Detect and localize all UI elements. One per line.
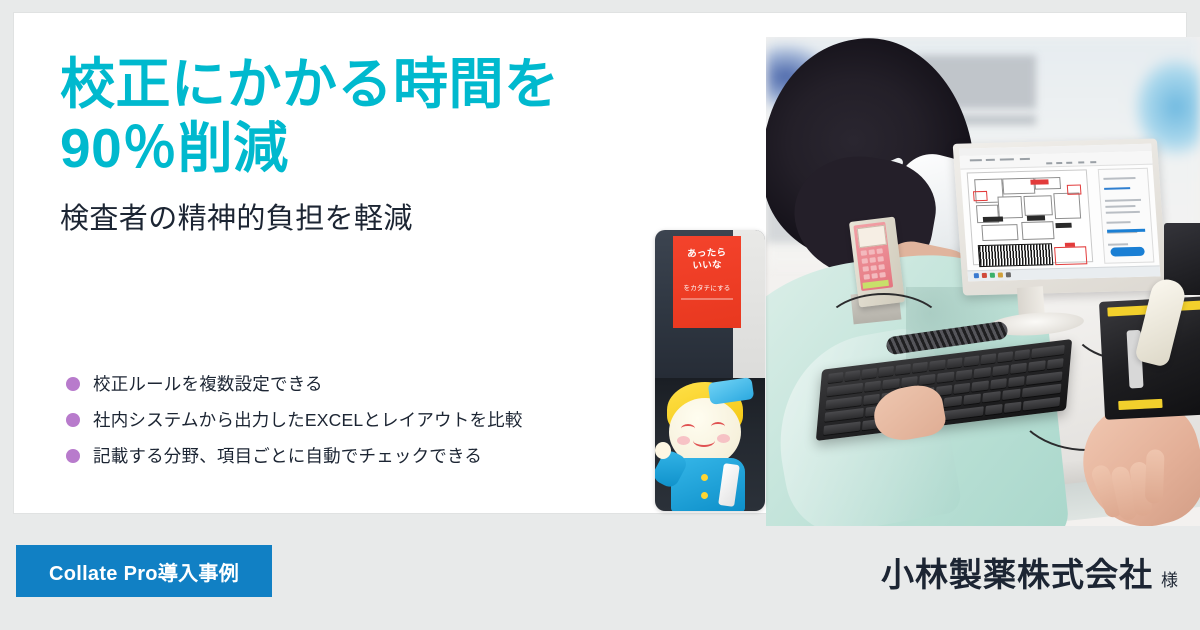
- primary-action-button[interactable]: [1110, 247, 1145, 257]
- poster-headline: あったら いいな: [673, 247, 742, 273]
- mascot-eye: [711, 422, 725, 431]
- inset-photo: あったら いいな をカタチにする: [655, 230, 765, 511]
- mascot-cheek: [717, 434, 730, 443]
- barcode-image: [978, 243, 1054, 267]
- mascot-button: [701, 474, 708, 481]
- list-item: 校正ルールを複数設定できる: [66, 371, 626, 396]
- page-title: 校正にかかる時間を 90％削減: [60, 53, 660, 181]
- bullet-dot-icon: [66, 449, 80, 463]
- main-photo: [766, 37, 1200, 526]
- corporate-slogan-poster: あったら いいな をカタチにする: [673, 236, 741, 328]
- feature-label: 社内システムから出力したEXCELとレイアウトを比較: [93, 407, 523, 432]
- mascot-eye: [681, 424, 695, 433]
- bullet-dot-icon: [66, 413, 80, 427]
- mascot-button: [701, 492, 708, 499]
- badge-label: Collate Pro導入事例: [49, 557, 239, 586]
- list-item: 社内システムから出力したEXCELとレイアウトを比較: [66, 407, 626, 432]
- poster-rule: [681, 298, 733, 300]
- monitor-screen: [959, 144, 1160, 282]
- mascot-cheek: [677, 436, 690, 445]
- progress-bar: [1107, 229, 1145, 233]
- feature-label: 校正ルールを複数設定できる: [93, 371, 323, 396]
- app-side-panel: [1098, 168, 1155, 264]
- workstation-photo: [766, 37, 1200, 526]
- list-item: 記載する分野、項目ごとに自動でチェックできる: [66, 443, 626, 468]
- company-credit: 小林製薬株式会社 様: [881, 548, 1178, 596]
- feature-label: 記載する分野、項目ごとに自動でチェックできる: [93, 443, 482, 468]
- poster-subline: をカタチにする: [673, 282, 741, 292]
- company-name: 小林製薬株式会社: [881, 548, 1153, 596]
- headline-block: 校正にかかる時間を 90％削減 検査者の精神的負担を軽減: [60, 53, 660, 237]
- mascot-mouth: [693, 434, 715, 447]
- company-honorific: 様: [1161, 566, 1178, 591]
- warning-label: [1118, 399, 1162, 410]
- case-study-badge: Collate Pro導入事例: [16, 545, 272, 597]
- page-subtitle: 検査者の精神的負担を軽減: [60, 195, 660, 237]
- hero-card: 校正にかかる時間を 90％削減 検査者の精神的負担を軽減 校正ルールを複数設定で…: [14, 13, 1186, 513]
- mascot-hand: [655, 442, 671, 459]
- bullet-dot-icon: [66, 377, 80, 391]
- feature-list: 校正ルールを複数設定できる 社内システムから出力したEXCELとレイアウトを比較…: [66, 371, 626, 479]
- terminal-display: [857, 225, 887, 248]
